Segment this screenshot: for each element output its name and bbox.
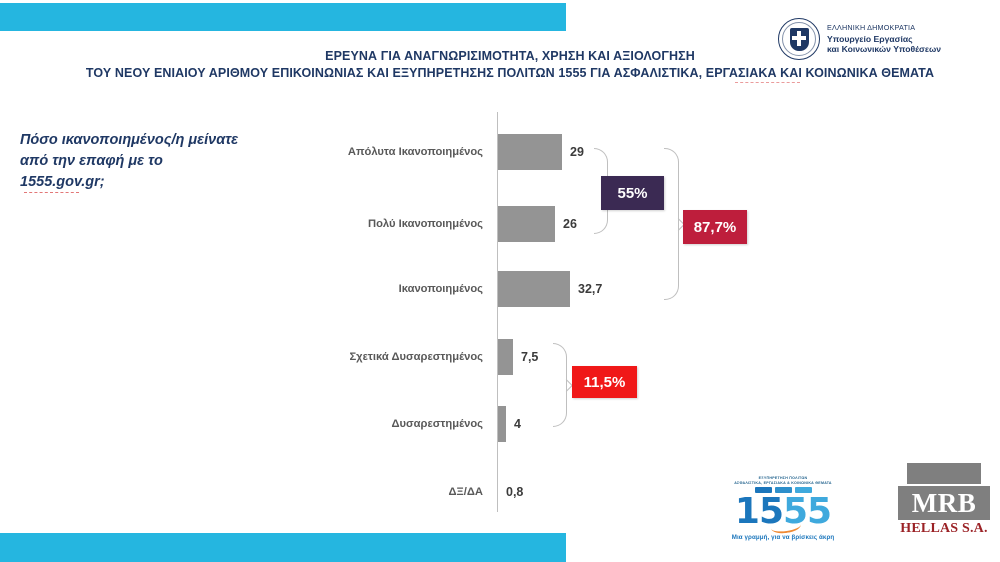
chart-row-2: Ικανοποιημένος 32,7	[330, 267, 750, 311]
question-line-2: από την επαφή με το	[20, 151, 285, 172]
bar-4	[498, 406, 506, 442]
bar-2	[498, 271, 570, 307]
ministry-logo: ΕΛΛΗΝΙΚΗ ΔΗΜΟΚΡΑΤΙΑ Υπουργείο Εργασίας κ…	[778, 18, 941, 60]
decorative-bar-bottom	[0, 533, 566, 562]
bar-value-1: 26	[563, 217, 577, 231]
bar-label-1: Πολύ Ικανοποιημένος	[330, 218, 490, 230]
brace-115	[553, 343, 567, 427]
bar-label-2: Ικανοποιημένος	[330, 283, 490, 295]
bar-value-0: 29	[570, 145, 584, 159]
decorative-bar-top	[0, 3, 566, 31]
bar-value-2: 32,7	[578, 282, 602, 296]
title-underline-decoration	[735, 82, 800, 83]
logo-1555-tagline: Μια γραμμή, για να βρίσκεις άκρη	[723, 534, 843, 541]
bar-1	[498, 206, 555, 242]
bar-0	[498, 134, 562, 170]
bar-value-3: 7,5	[521, 350, 538, 364]
mrb-logo-name: MRB	[898, 486, 990, 520]
mrb-logo-block-top	[907, 463, 981, 484]
greek-coat-of-arms-icon	[778, 18, 820, 60]
logo-1555-swoosh-icon	[770, 518, 802, 535]
callout-badge-877: 87,7%	[683, 210, 747, 244]
ministry-line-3: και Κοινωνικών Υποθέσεων	[827, 44, 941, 55]
slide-canvas: ΕΡΕΥΝΑ ΓΙΑ ΑΝΑΓΝΩΡΙΣΙΜΟΤΗΤΑ, ΧΡΗΣΗ ΚΑΙ Α…	[0, 0, 1000, 562]
bar-chart: Απόλυτα Ικανοποιημένος 29 Πολύ Ικανοποιη…	[330, 112, 750, 512]
bar-value-5: 0,8	[506, 485, 523, 499]
question-line-1: Πόσο ικανοποιημένος/η μείνατε	[20, 130, 285, 151]
callout-badge-55: 55%	[601, 176, 664, 210]
ministry-line-1: ΕΛΛΗΝΙΚΗ ΔΗΜΟΚΡΑΤΙΑ	[827, 23, 941, 34]
mrb-logo-subtitle: HELLAS S.A.	[898, 521, 990, 537]
title-line-2: ΤΟΥ ΝΕΟΥ ΕΝΙΑΙΟΥ ΑΡΙΘΜΟΥ ΕΠΙΚΟΙΝΩΝΙΑΣ ΚΑ…	[86, 65, 934, 82]
chart-row-5: ΔΞ/ΔΑ 0,8	[330, 470, 750, 514]
bar-value-4: 4	[514, 417, 521, 431]
bar-label-4: Δυσαρεστημένος	[330, 418, 490, 430]
bar-label-0: Απόλυτα Ικανοποιημένος	[330, 146, 490, 158]
survey-question: Πόσο ικανοποιημένος/η μείνατε από την επ…	[20, 130, 285, 193]
question-line-3-url: 1555.gov.gr;	[20, 172, 105, 193]
chart-row-3: Σχετικά Δυσαρεστημένος 7,5	[330, 335, 750, 379]
bar-label-3: Σχετικά Δυσαρεστημένος	[330, 351, 490, 363]
brace-877	[664, 148, 679, 300]
chart-row-0: Απόλυτα Ικανοποιημένος 29	[330, 130, 750, 174]
callout-badge-115: 11,5%	[572, 366, 637, 398]
logo-1555: ΕΞΥΠΗΡΕΤΗΣΗ ΠΟΛΙΤΩΝ ΑΣΦΑΛΙΣΤΙΚΑ, ΕΡΓΑΣΙΑ…	[723, 476, 843, 541]
ministry-line-2: Υπουργείο Εργασίας	[827, 34, 941, 45]
ministry-logo-text: ΕΛΛΗΝΙΚΗ ΔΗΜΟΚΡΑΤΙΑ Υπουργείο Εργασίας κ…	[827, 23, 941, 55]
bar-label-5: ΔΞ/ΔΑ	[330, 486, 490, 498]
mrb-logo: MRB HELLAS S.A.	[898, 463, 990, 537]
logo-1555-toptext-2: ΑΣΦΑΛΙΣΤΙΚΑ, ΕΡΓΑΣΙΑΚΑ & ΚΟΙΝΩΝΙΚΑ ΘΕΜΑΤ…	[723, 481, 843, 486]
shield-cross-icon	[790, 28, 809, 51]
chart-row-4: Δυσαρεστημένος 4	[330, 402, 750, 446]
bar-3	[498, 339, 513, 375]
